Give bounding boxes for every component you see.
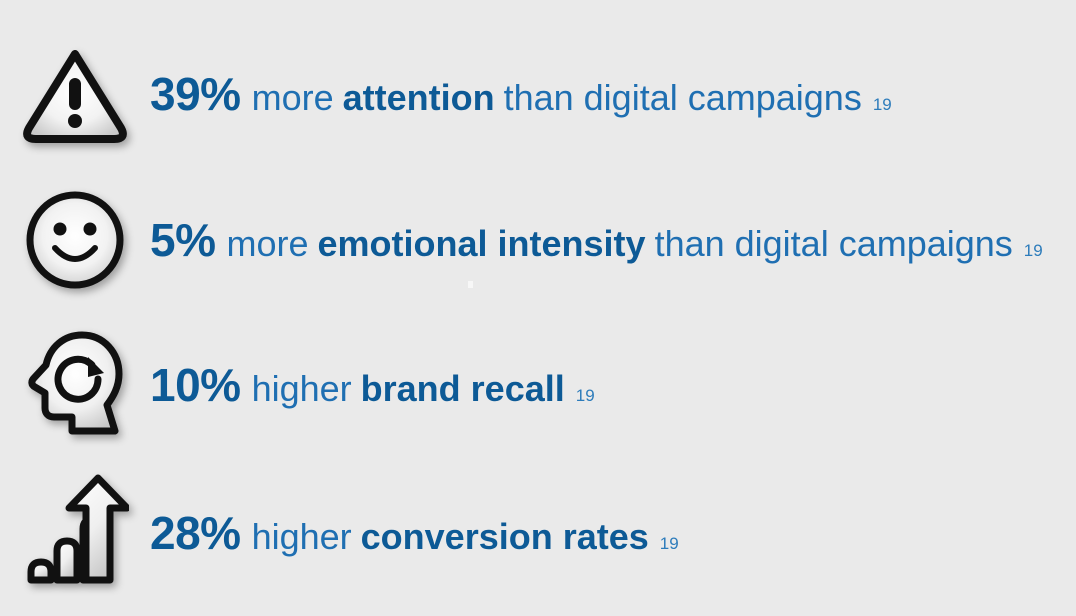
stat-row: 39%moreattentionthan digital campaigns19: [0, 24, 1076, 164]
stat-footnote-reference: 19: [862, 95, 892, 114]
stat-mid-word: more: [241, 77, 343, 118]
stat-strong-phrase: attention: [343, 77, 495, 118]
stat-percent: 5%: [150, 214, 215, 266]
stat-percent: 10%: [150, 359, 241, 411]
statistics-list: 39%moreattentionthan digital campaigns19: [0, 0, 1076, 616]
stat-footnote-reference: 19: [1013, 241, 1043, 260]
stat-percent: 39%: [150, 68, 241, 120]
stat-strong-phrase: brand recall: [361, 368, 565, 409]
stat-row: 28%higherconversion rates19: [0, 458, 1076, 608]
stat-text: 28%higherconversion rates19: [150, 510, 1076, 556]
stat-mid-word: higher: [241, 368, 361, 409]
stat-percent: 28%: [150, 507, 241, 559]
stat-text: 5%moreemotional intensitythan digital ca…: [150, 217, 1076, 263]
stat-tail-phrase: than digital campaigns: [646, 223, 1013, 264]
stat-text: 10%higherbrand recall19: [150, 362, 1076, 408]
image-artifact-speck: [468, 281, 473, 288]
stat-tail-phrase: than digital campaigns: [495, 77, 862, 118]
stat-strong-phrase: emotional intensity: [318, 223, 646, 264]
warning-triangle-icon: [0, 42, 150, 146]
smiley-face-icon: [0, 188, 150, 292]
stat-row: 5%moreemotional intensitythan digital ca…: [0, 170, 1076, 310]
growth-chart-arrow-icon: [0, 472, 150, 594]
head-recall-icon: [0, 327, 150, 443]
stat-text: 39%moreattentionthan digital campaigns19: [150, 71, 1076, 117]
stat-footnote-reference: 19: [565, 386, 595, 405]
stat-mid-word: higher: [241, 516, 361, 557]
stat-strong-phrase: conversion rates: [361, 516, 649, 557]
stat-row: 10%higherbrand recall19: [0, 320, 1076, 450]
stat-footnote-reference: 19: [649, 534, 679, 553]
stat-mid-word: more: [215, 223, 317, 264]
